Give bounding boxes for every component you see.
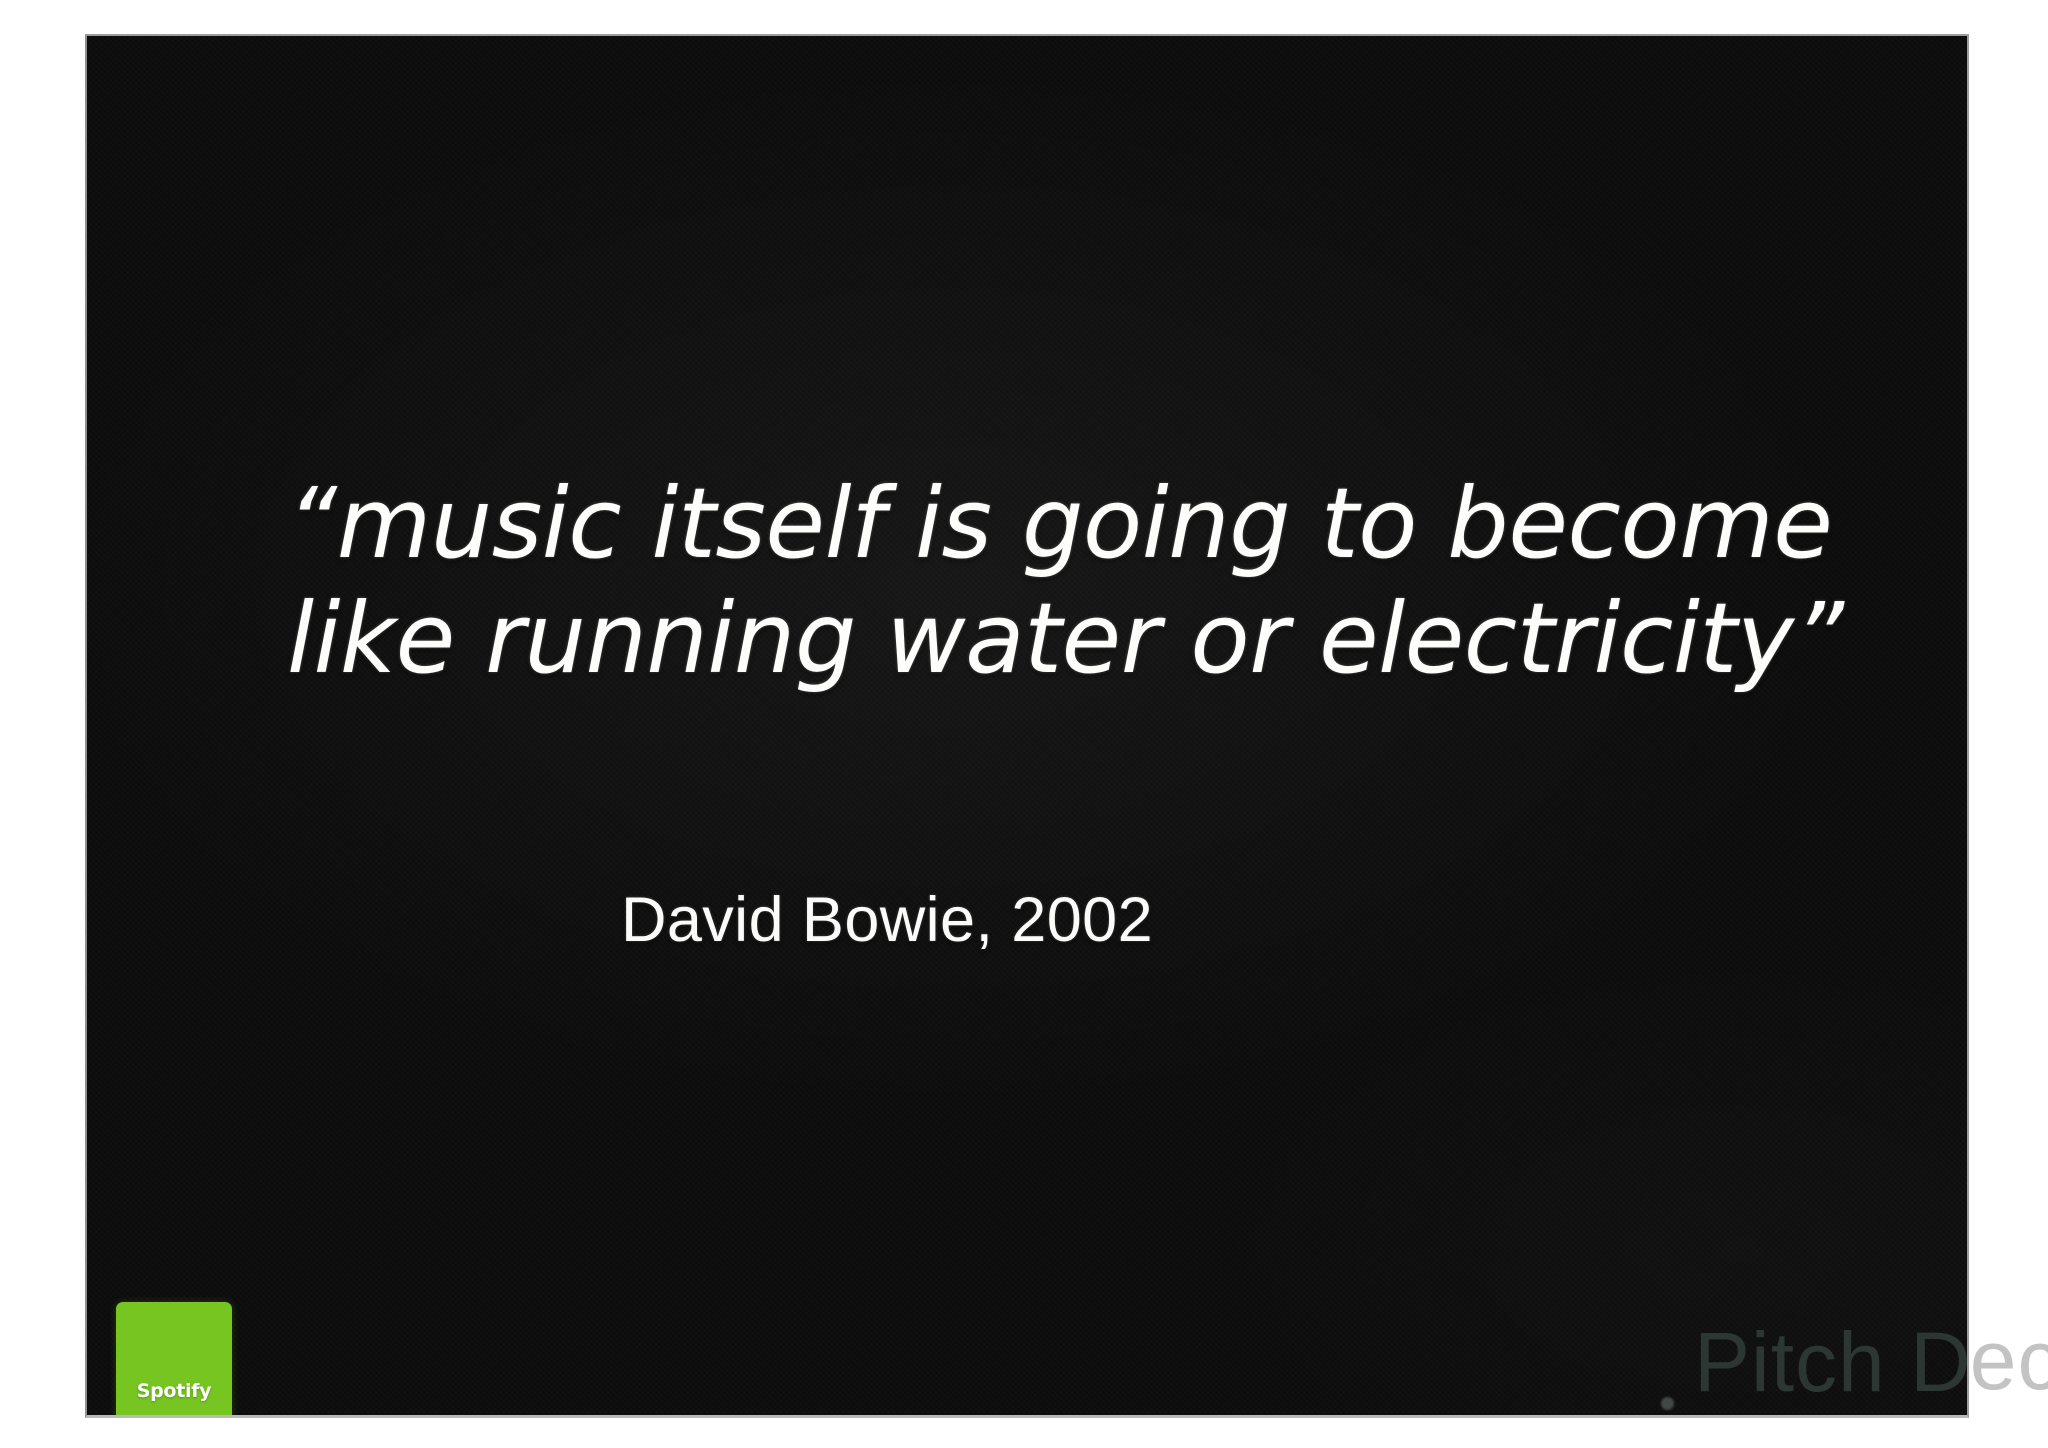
slide-texture-overlay (87, 36, 1967, 1415)
page-canvas: Pitch Deck “music itself is going to bec… (0, 0, 2048, 1448)
spotify-wordmark: Spotify (116, 1380, 232, 1402)
pitch-deck-watermark-inner: Pitch Deck (1694, 1320, 1967, 1404)
slide-vignette-overlay (87, 36, 1967, 1415)
watermark-inner-clip: Pitch Deck (87, 36, 1967, 1415)
quote-text: “music itself is going to become like ru… (287, 466, 1847, 697)
spotify-logo: Spotify (116, 1302, 232, 1418)
presentation-slide: “music itself is going to become like ru… (85, 34, 1969, 1418)
quote-block: “music itself is going to become like ru… (287, 466, 1847, 697)
faint-dot-mark (1661, 1397, 1674, 1410)
quote-attribution: David Bowie, 2002 (287, 884, 1487, 956)
